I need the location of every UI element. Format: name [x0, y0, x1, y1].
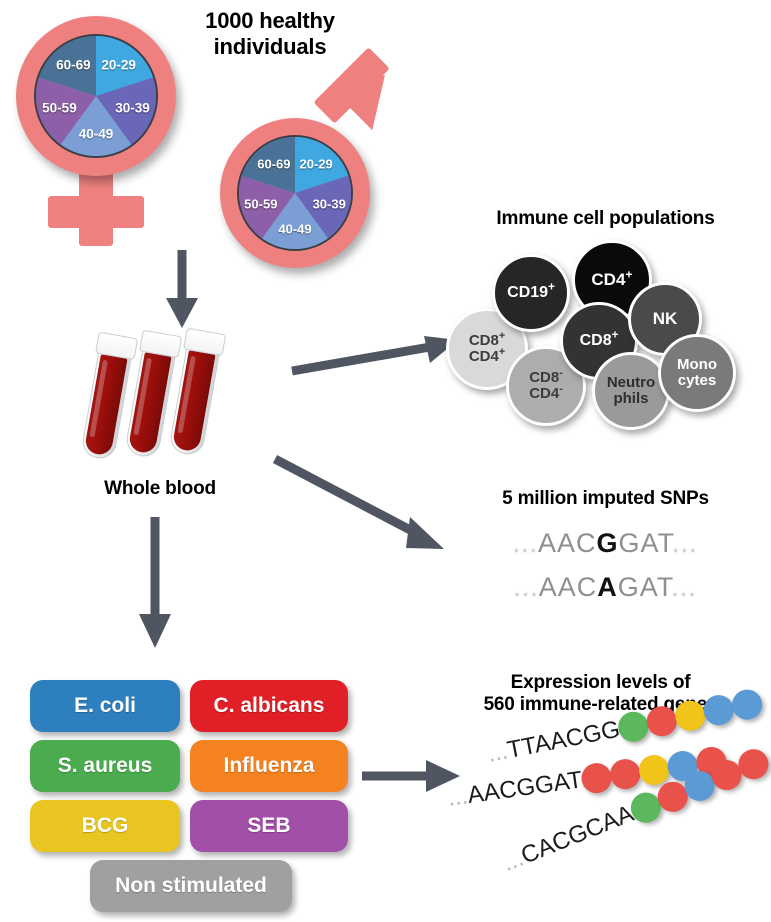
immune-cell-label: CD8-CD4- [529, 370, 563, 401]
age-label-male-0: 20-29 [300, 156, 333, 171]
immune-cell-label: NK [653, 310, 678, 328]
immune-cell-label: CD4+ [591, 271, 632, 289]
age-label-female-0: 20-29 [101, 57, 136, 72]
age-label-female-3: 50-59 [42, 100, 77, 115]
snp-prefix-ellipsis: ... [513, 572, 539, 602]
stimulus-label: E. coli [74, 694, 136, 718]
whole-blood-tubes [95, 330, 265, 470]
gene-expression-bead [579, 761, 613, 795]
snp-suffix-ellipsis: ... [672, 528, 698, 558]
snp-suffix-ellipsis: ... [671, 572, 697, 602]
female-gender-symbol: 20-29 30-39 40-49 50-59 60-69 [8, 8, 188, 238]
gene-expression-bead [701, 693, 736, 728]
immune-cell-label: CD8+CD4+ [469, 333, 505, 364]
arrow-blood-to-snps [272, 455, 462, 565]
gene-expression-bead [608, 757, 642, 791]
page-title-cohort: 1000 healthyindividuals [170, 8, 370, 60]
section-title-immune-cells: Immune cell populations [440, 208, 771, 230]
immune-cell-label: CD19+ [507, 285, 555, 302]
stimulus-pill-non-stimulated[interactable]: Non stimulated [90, 860, 292, 912]
female-symbol-horizontal-bar [48, 196, 144, 228]
stimulus-label: Influenza [223, 754, 314, 778]
snp-sequence-row: ...AACAGAT... [455, 572, 755, 603]
immune-cell-label: Neutrophils [607, 375, 655, 406]
stimulus-pill-bcg[interactable]: BCG [30, 800, 180, 852]
snp-variant-base: A [597, 572, 618, 602]
age-label-male-1: 30-39 [313, 197, 346, 212]
stimulus-label: BCG [82, 814, 129, 838]
stimulus-pill-s-aureus[interactable]: S. aureus [30, 740, 180, 792]
age-label-female-1: 30-39 [115, 100, 150, 115]
stimulus-pill-influenza[interactable]: Influenza [190, 740, 348, 792]
snp-left-bases: AAC [539, 572, 598, 602]
male-symbol-arrowhead [330, 54, 406, 130]
stimulus-label: S. aureus [58, 754, 153, 778]
immune-cell-monocytes: Monocytes [658, 334, 736, 412]
male-gender-symbol: 20-29 30-39 40-49 50-59 60-69 [212, 76, 412, 276]
snp-variant-base: G [597, 528, 619, 558]
section-title-snps: 5 million imputed SNPs [440, 488, 771, 510]
stimuli-panel: E. coliC. albicansS. aureusInfluenzaBCGS… [30, 680, 350, 895]
snp-sequence-group: ...AACGGAT......AACAGAT... [455, 528, 755, 618]
snp-sequence-row: ...AACGGAT... [455, 528, 755, 559]
arrow-blood-to-stimuli [112, 515, 192, 655]
age-label-female-2: 40-49 [79, 127, 114, 142]
gene-strand-group: ...TTAACGG...AACGGAT...CACGCAA [448, 730, 771, 910]
snp-prefix-ellipsis: ... [512, 528, 538, 558]
immune-cell-label: Monocytes [677, 357, 717, 388]
age-label-female-4: 60-69 [56, 57, 91, 72]
age-label-male-2: 40-49 [278, 221, 311, 236]
stimulus-pill-seb[interactable]: SEB [190, 800, 348, 852]
arrow-cohort-to-blood [150, 248, 230, 338]
immune-cell-label: CD8+ [580, 333, 619, 350]
immune-cell-cd19: CD19+ [492, 254, 570, 332]
gene-sequence-text: ...CACGCAA [499, 800, 638, 878]
snp-left-bases: AAC [538, 528, 597, 558]
stimulus-label: C. albicans [214, 694, 325, 718]
gene-expression-bead [673, 698, 708, 733]
snp-right-bases: GAT [618, 572, 672, 602]
whole-blood-label: Whole blood [60, 478, 260, 500]
gene-sequence-text: ...AACGGAT [446, 766, 584, 813]
age-label-male-3: 50-59 [244, 197, 277, 212]
diagram-canvas: 20-29 30-39 40-49 50-59 60-69 20-29 30-3… [0, 0, 771, 922]
age-label-male-4: 60-69 [257, 156, 290, 171]
stimulus-label: SEB [247, 814, 290, 838]
stimulus-pill-c-albicans[interactable]: C. albicans [190, 680, 348, 732]
gene-expression-bead [644, 704, 679, 739]
snp-right-bases: GAT [619, 528, 673, 558]
stimulus-label: Non stimulated [115, 874, 267, 898]
stimulus-pill-e-coli[interactable]: E. coli [30, 680, 180, 732]
immune-cell-population-cluster: CD8+CD4+CD19+CD4+CD8-CD4-CD8+NKNeutrophi… [440, 240, 771, 420]
gene-expression-bead [730, 687, 765, 722]
